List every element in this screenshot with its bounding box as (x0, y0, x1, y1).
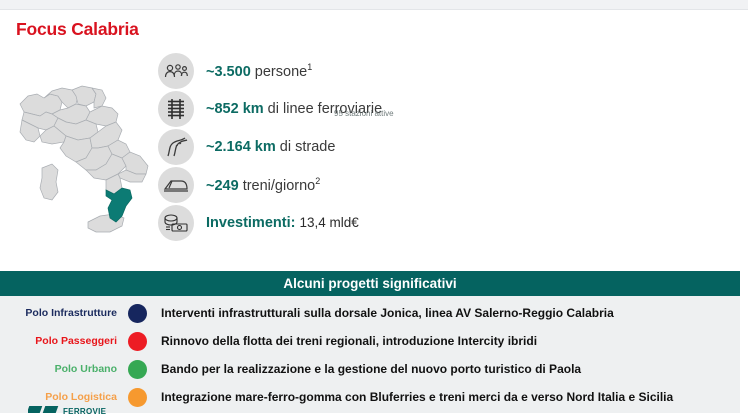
stat-sup-persone: 1 (307, 62, 312, 72)
project-text-logistica: Integrazione mare-ferro-gomma con Blufer… (161, 390, 673, 404)
train-icon (158, 167, 194, 203)
polo-dot-infrastrutture (128, 304, 147, 323)
stat-row-investimenti: Investimenti: 13,4 mld€ (158, 204, 578, 242)
railway-track-icon (158, 91, 194, 127)
italy-map-svg (6, 82, 154, 257)
stat-sup-treni: 2 (315, 176, 320, 186)
money-icon (158, 205, 194, 241)
polo-dot-urbano (128, 360, 147, 379)
investment-value: 13,4 mld€ (299, 215, 358, 230)
stat-label-treni: treni/giorno (239, 178, 316, 194)
stat-value-strade: ~2.164 km (206, 139, 276, 155)
project-row-passeggeri[interactable]: Polo Passeggeri Rinnovo della flotta dei… (0, 328, 740, 354)
top-strip-divider (0, 9, 748, 10)
stat-row-ferroviarie: ~852 km di linee ferroviarie 95 stazioni… (158, 90, 578, 128)
investment-label: Investimenti: (206, 215, 295, 231)
italy-map (6, 82, 154, 257)
projects-area: Polo Infrastrutture Interventi infrastru… (0, 296, 740, 413)
logo-bar-1 (28, 406, 42, 413)
stat-label-strade: di strade (276, 139, 336, 155)
stat-text-persone: ~3.500 persone1 (206, 62, 312, 80)
stat-row-treni: ~249 treni/giorno2 (158, 166, 578, 204)
road-icon (158, 129, 194, 165)
stat-row-strade: ~2.164 km di strade (158, 128, 578, 166)
page-title: Focus Calabria (16, 19, 139, 40)
stat-text-investimenti: Investimenti: 13,4 mld€ (206, 215, 359, 231)
polo-label-infrastrutture: Polo Infrastrutture (0, 307, 125, 319)
project-text-infrastrutture: Interventi infrastrutturali sulla dorsal… (161, 306, 614, 320)
stat-label-persone: persone (251, 64, 307, 80)
people-icon (158, 53, 194, 89)
stat-value-persone: ~3.500 (206, 64, 251, 80)
ferrovie-logo: FERROVIE (28, 405, 148, 417)
stat-row-persone: ~3.500 persone1 (158, 52, 578, 90)
project-text-urbano: Bando per la realizzazione e la gestione… (161, 362, 581, 376)
polo-dot-logistica (128, 388, 147, 407)
polo-label-passeggeri: Polo Passeggeri (0, 335, 125, 347)
project-row-infrastrutture[interactable]: Polo Infrastrutture Interventi infrastru… (0, 300, 740, 326)
slide-canvas: Focus Calabria (0, 0, 748, 417)
top-strip (0, 0, 748, 9)
stat-value-ferroviarie: ~852 km (206, 101, 264, 117)
projects-banner: Alcuni progetti significativi (0, 271, 740, 296)
stat-value-treni: ~249 (206, 178, 239, 194)
polo-label-urbano: Polo Urbano (0, 363, 125, 375)
stat-text-strade: ~2.164 km di strade (206, 139, 335, 155)
logo-text: FERROVIE (63, 407, 106, 416)
stats-list: ~3.500 persone1 ~852 km di linee ferrovi… (158, 52, 578, 242)
stat-text-treni: ~249 treni/giorno2 (206, 176, 320, 194)
project-text-passeggeri: Rinnovo della flotta dei treni regionali… (161, 334, 537, 348)
logo-bar-2 (43, 406, 59, 413)
stat-text-ferroviarie: ~852 km di linee ferroviarie 95 stazioni… (206, 101, 382, 117)
polo-label-logistica: Polo Logistica (0, 391, 125, 403)
stat-note-stazioni: 95 stazioni attive (334, 109, 394, 118)
polo-dot-passeggeri (128, 332, 147, 351)
project-row-urbano[interactable]: Polo Urbano Bando per la realizzazione e… (0, 356, 740, 382)
